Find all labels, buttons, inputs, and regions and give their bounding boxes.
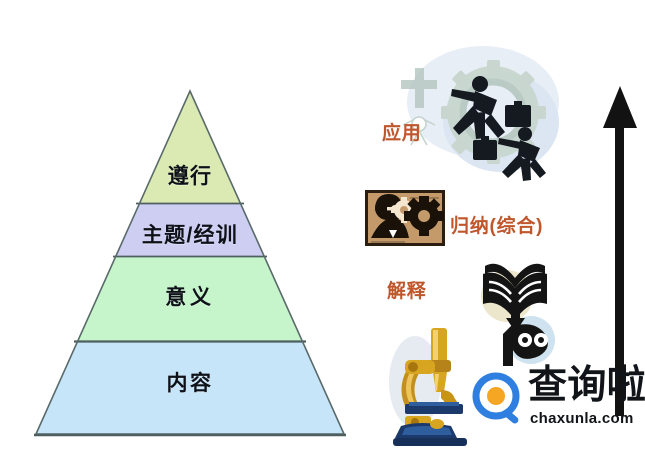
diagram-canvas: 遵行 主题/经训 意义 内容 — [0, 0, 645, 458]
pyramid-level-base-label: 内容 — [0, 367, 380, 397]
pyramid-level-top-label: 遵行 — [0, 160, 380, 190]
label-apply: 应用 — [382, 118, 422, 145]
head-gears-graphic — [365, 190, 445, 246]
head-gears-icon — [365, 190, 445, 246]
pyramid-level-second-label: 主题/经训 — [0, 219, 380, 249]
label-interp: 解释 — [387, 276, 427, 303]
microscope-icon — [375, 320, 485, 450]
gears-businessmen-icon — [375, 40, 575, 185]
watermark-url: chaxunla.com — [530, 410, 634, 427]
magnifier-logo-icon — [470, 370, 530, 432]
watermark-brand: 查询啦 — [528, 366, 645, 405]
open-book-arrow-face-icon — [475, 248, 561, 366]
pyramid-level-third-label: 意义 — [0, 281, 380, 311]
book-face-graphic — [475, 248, 561, 366]
watermark: 查询啦 chaxunla.com — [470, 366, 642, 442]
microscope-graphic — [375, 320, 485, 450]
label-synth: 归纳(综合) — [450, 211, 543, 238]
learning-hierarchy-pyramid: 遵行 主题/经训 意义 内容 — [0, 0, 380, 458]
gears-running-businessmen-graphic — [375, 40, 575, 185]
